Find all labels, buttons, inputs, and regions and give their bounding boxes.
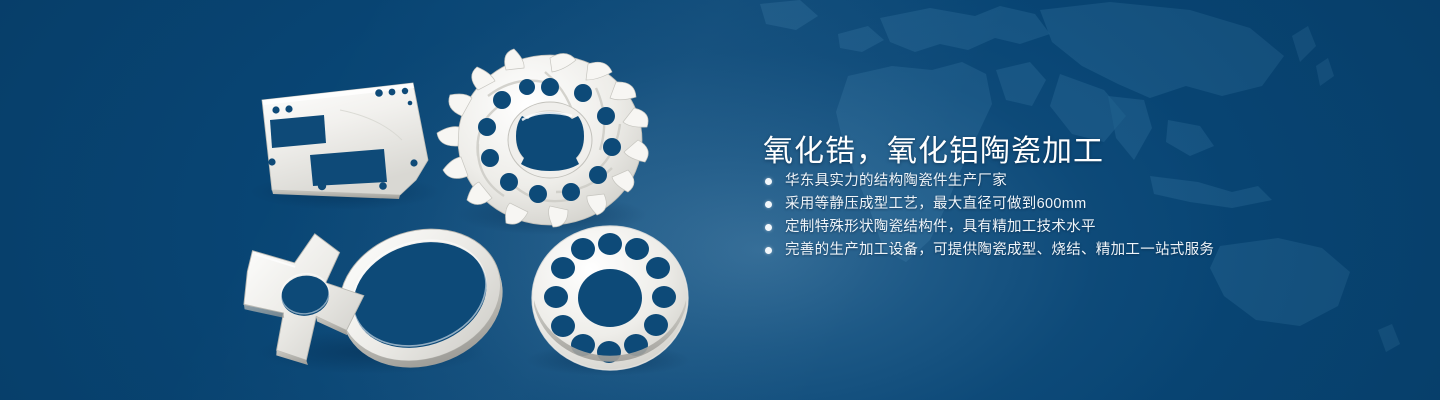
- ceramic-perforated-disc-part: [532, 226, 688, 370]
- page-title: 氧化锆，氧化铝陶瓷加工: [763, 132, 1104, 172]
- bullet-dot-icon: [765, 178, 772, 185]
- feature-text: 华东具实力的结构陶瓷件生产厂家: [785, 170, 1007, 193]
- ceramic-plate-part: [262, 83, 428, 199]
- ceramic-products-image: [0, 0, 760, 400]
- feature-text: 定制特殊形状陶瓷结构件，具有精加工技术水平: [785, 216, 1096, 239]
- ceramic-impeller-part: [437, 49, 648, 227]
- bullet-dot-icon: [765, 201, 772, 208]
- list-item: 华东具实力的结构陶瓷件生产厂家: [765, 170, 1214, 193]
- list-item: 完善的生产加工设备，可提供陶瓷成型、烧结、精加工一站式服务: [765, 239, 1214, 262]
- bullet-dot-icon: [765, 247, 772, 254]
- feature-list: 华东具实力的结构陶瓷件生产厂家 采用等静压成型工艺，最大直径可做到600mm 定…: [765, 170, 1214, 262]
- bullet-dot-icon: [765, 224, 772, 231]
- banner-copy: 氧化锆，氧化铝陶瓷加工 华东具实力的结构陶瓷件生产厂家 采用等静压成型工艺，最大…: [763, 0, 1383, 400]
- feature-text: 采用等静压成型工艺，最大直径可做到600mm: [785, 193, 1086, 216]
- feature-text: 完善的生产加工设备，可提供陶瓷成型、烧结、精加工一站式服务: [785, 239, 1214, 262]
- hero-banner: 氧化锆，氧化铝陶瓷加工 华东具实力的结构陶瓷件生产厂家 采用等静压成型工艺，最大…: [0, 0, 1440, 400]
- list-item: 定制特殊形状陶瓷结构件，具有精加工技术水平: [765, 216, 1214, 239]
- list-item: 采用等静压成型工艺，最大直径可做到600mm: [765, 193, 1214, 216]
